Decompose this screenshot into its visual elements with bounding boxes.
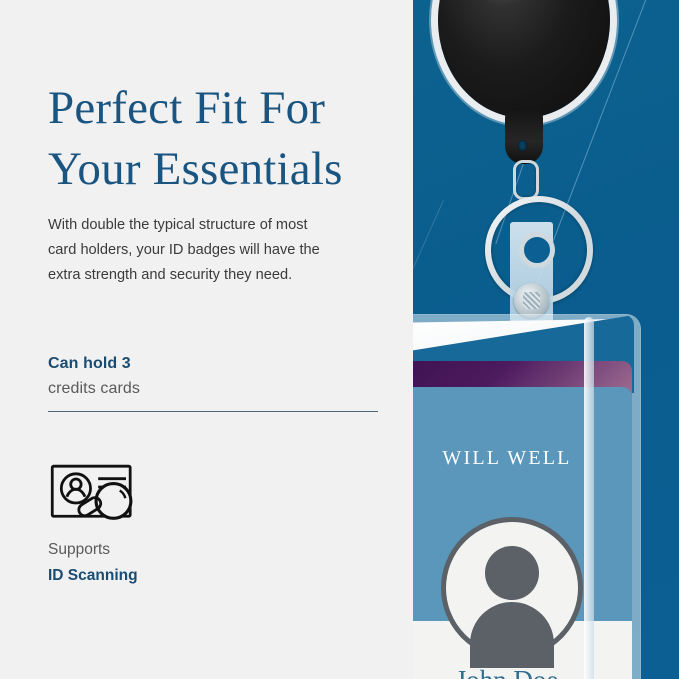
avatar-body bbox=[470, 602, 554, 668]
headline-line-2: Your Essentials bbox=[48, 139, 388, 200]
reel-clip bbox=[513, 160, 539, 200]
avatar bbox=[441, 517, 583, 659]
holder-right-edge bbox=[584, 317, 594, 679]
badge-person-name: John Doe bbox=[413, 665, 632, 679]
feature-capacity-strong: Can hold 3 bbox=[48, 355, 378, 373]
id-badge-card: WILL WELL John Doe bbox=[413, 387, 632, 679]
description-paragraph: With double the typical structure of mos… bbox=[48, 213, 323, 288]
page-title: Perfect Fit For Your Essentials bbox=[48, 78, 388, 200]
left-content-panel: Perfect Fit For Your Essentials With dou… bbox=[0, 0, 413, 679]
id-badge-holder: E 8 WILL WELL John Doe bbox=[413, 315, 640, 679]
reel-hole bbox=[518, 140, 527, 151]
id-card-scan-icon bbox=[48, 462, 140, 526]
product-feature-image: Perfect Fit For Your Essentials With dou… bbox=[0, 0, 679, 679]
headline-line-1: Perfect Fit For bbox=[48, 78, 388, 139]
snap-button bbox=[514, 283, 549, 318]
badge-reel bbox=[438, 0, 610, 118]
feature-scanning: Supports ID Scanning bbox=[48, 541, 138, 585]
reel-stem bbox=[505, 108, 543, 164]
section-divider bbox=[48, 411, 378, 412]
feature-capacity: Can hold 3 credits cards bbox=[48, 355, 378, 398]
badge-org-name: WILL WELL bbox=[413, 447, 632, 470]
strap-eyelet bbox=[519, 232, 555, 268]
feature-scanning-light: Supports bbox=[48, 541, 138, 559]
avatar-head bbox=[485, 546, 539, 600]
feature-scanning-strong: ID Scanning bbox=[48, 567, 138, 585]
feature-capacity-light: credits cards bbox=[48, 380, 378, 398]
product-photo: E 8 WILL WELL John Doe bbox=[413, 0, 679, 679]
